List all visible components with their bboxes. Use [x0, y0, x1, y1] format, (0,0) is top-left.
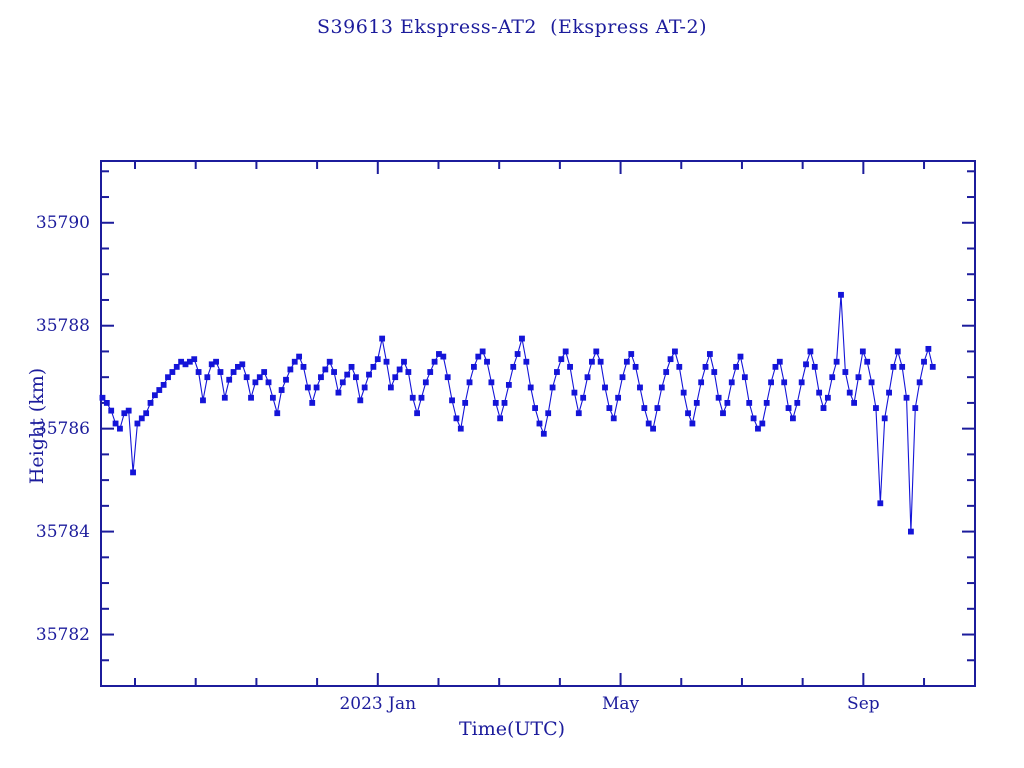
y-tick-label: 35782	[10, 625, 90, 645]
y-tick-label: 35786	[10, 419, 90, 439]
data-series-line	[102, 295, 932, 532]
y-tick-label: 35784	[10, 522, 90, 542]
y-tick-label: 35788	[10, 316, 90, 336]
x-tick-label: 2023 Jan	[298, 694, 458, 714]
plot-area	[0, 0, 1024, 768]
x-tick-label: May	[541, 694, 701, 714]
x-tick-label: Sep	[783, 694, 943, 714]
chart-canvas: S39613 Ekspress-AT2 (Ekspress AT-2) Heig…	[0, 0, 1024, 768]
y-tick-label: 35790	[10, 213, 90, 233]
data-series-markers	[100, 292, 936, 534]
